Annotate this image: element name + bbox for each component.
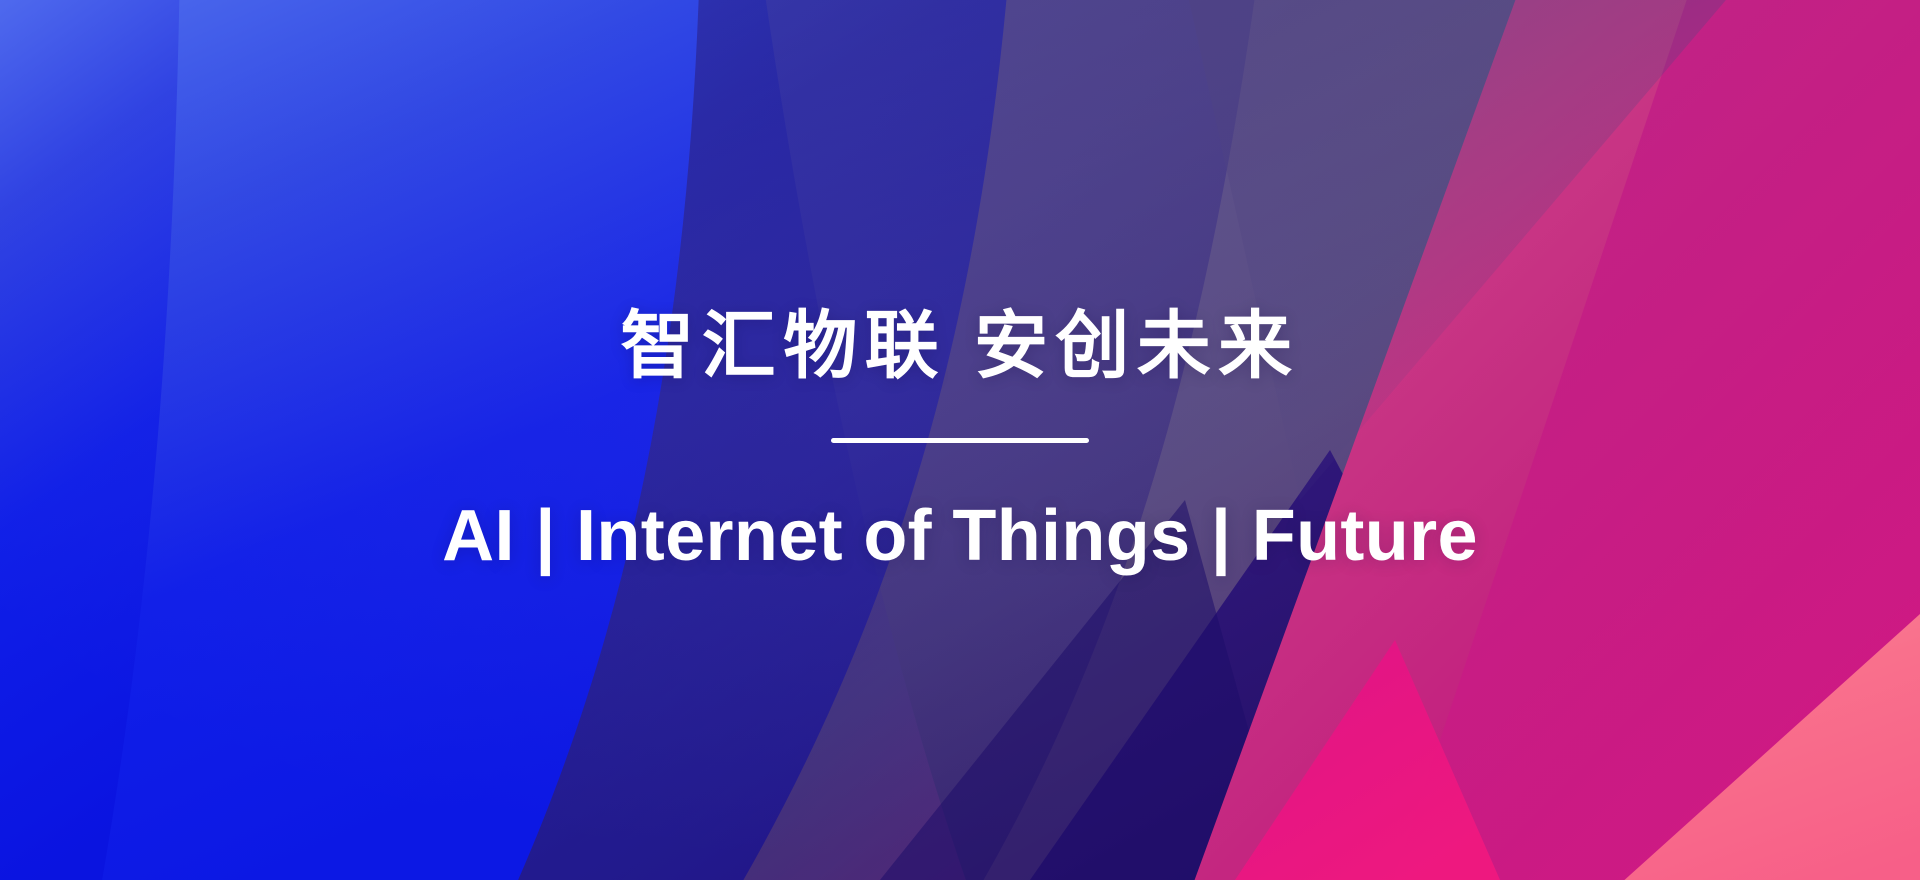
promo-banner: 智汇物联 安创未来 AI | Internet of Things | Futu…: [0, 0, 1920, 880]
subtitle-english: AI | Internet of Things | Future: [442, 499, 1478, 575]
headline-chinese: 智汇物联 安创未来: [620, 306, 1299, 386]
divider-rule: [831, 438, 1089, 443]
